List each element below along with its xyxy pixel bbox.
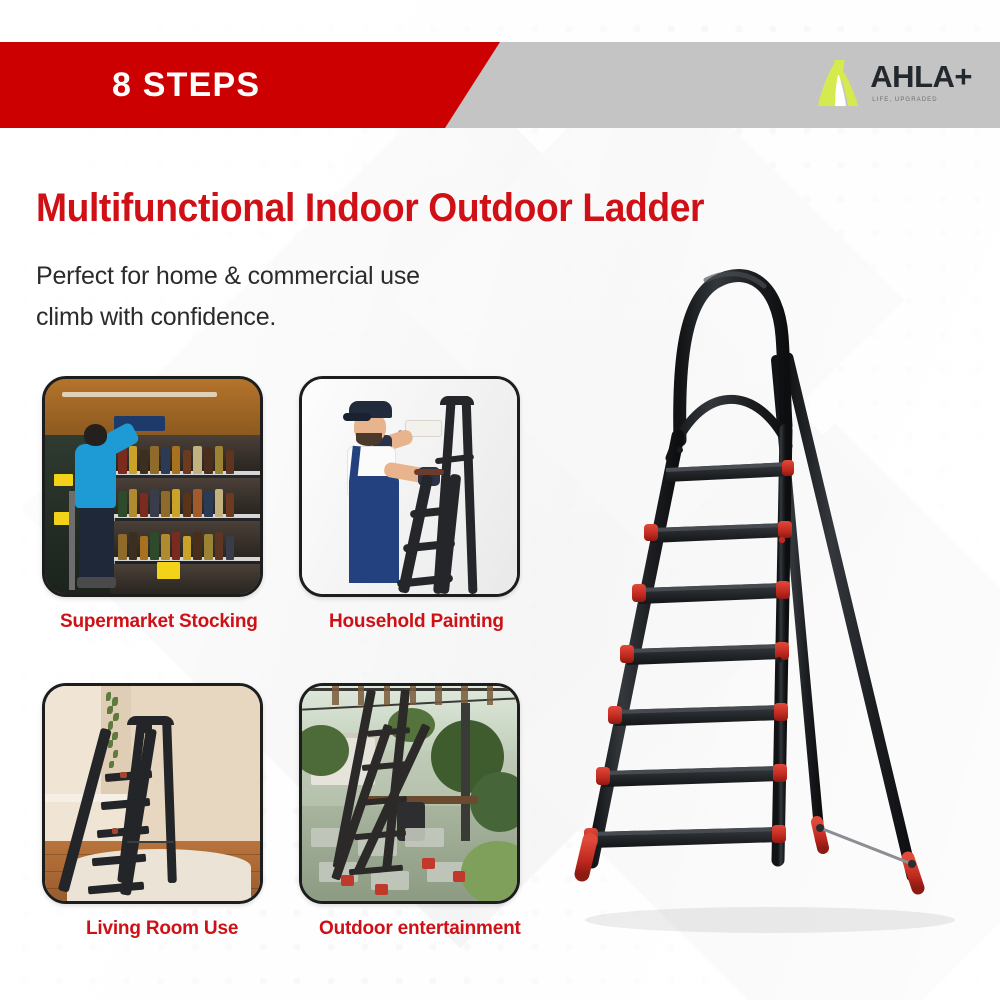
feature-caption: Supermarket Stocking <box>60 611 299 633</box>
brand-logo: AHLA+ LIFE, UPGRADED <box>815 55 972 109</box>
subtitle-line-2: climb with confidence. <box>36 297 420 338</box>
household-painting-photo <box>299 376 520 597</box>
feature-card: Supermarket Stocking <box>42 376 299 633</box>
feature-card: Outdoor entertainment <box>299 683 556 940</box>
living-room-photo <box>42 683 263 904</box>
page-title: Multifunctional Indoor Outdoor Ladder <box>36 186 704 231</box>
product-marketing-banner: 8 STEPS AHLA+ LIFE, UPGRADED Multifuncti… <box>0 0 1000 1000</box>
brand-tagline: LIFE, UPGRADED <box>872 97 972 103</box>
outdoor-patio-photo <box>299 683 520 904</box>
ladder-illustration <box>520 240 990 940</box>
step-count-badge: 8 STEPS <box>0 42 500 128</box>
feature-card-row: Living Room Use <box>42 683 556 940</box>
subtitle-line-1: Perfect for home & commercial use <box>36 256 420 297</box>
feature-card: Household Painting <box>299 376 556 633</box>
ahla-logo-mark-icon <box>815 57 861 109</box>
supermarket-stocking-photo <box>42 376 263 597</box>
feature-caption: Living Room Use <box>86 918 299 940</box>
feature-card-grid: Supermarket Stocking <box>42 376 556 940</box>
feature-card-row: Supermarket Stocking <box>42 376 556 633</box>
page-subtitle: Perfect for home & commercial use climb … <box>36 256 420 337</box>
feature-card: Living Room Use <box>42 683 299 940</box>
brand-name: AHLA+ <box>870 61 972 92</box>
product-ladder-image <box>520 240 990 940</box>
step-count-label: 8 STEPS <box>112 66 260 105</box>
